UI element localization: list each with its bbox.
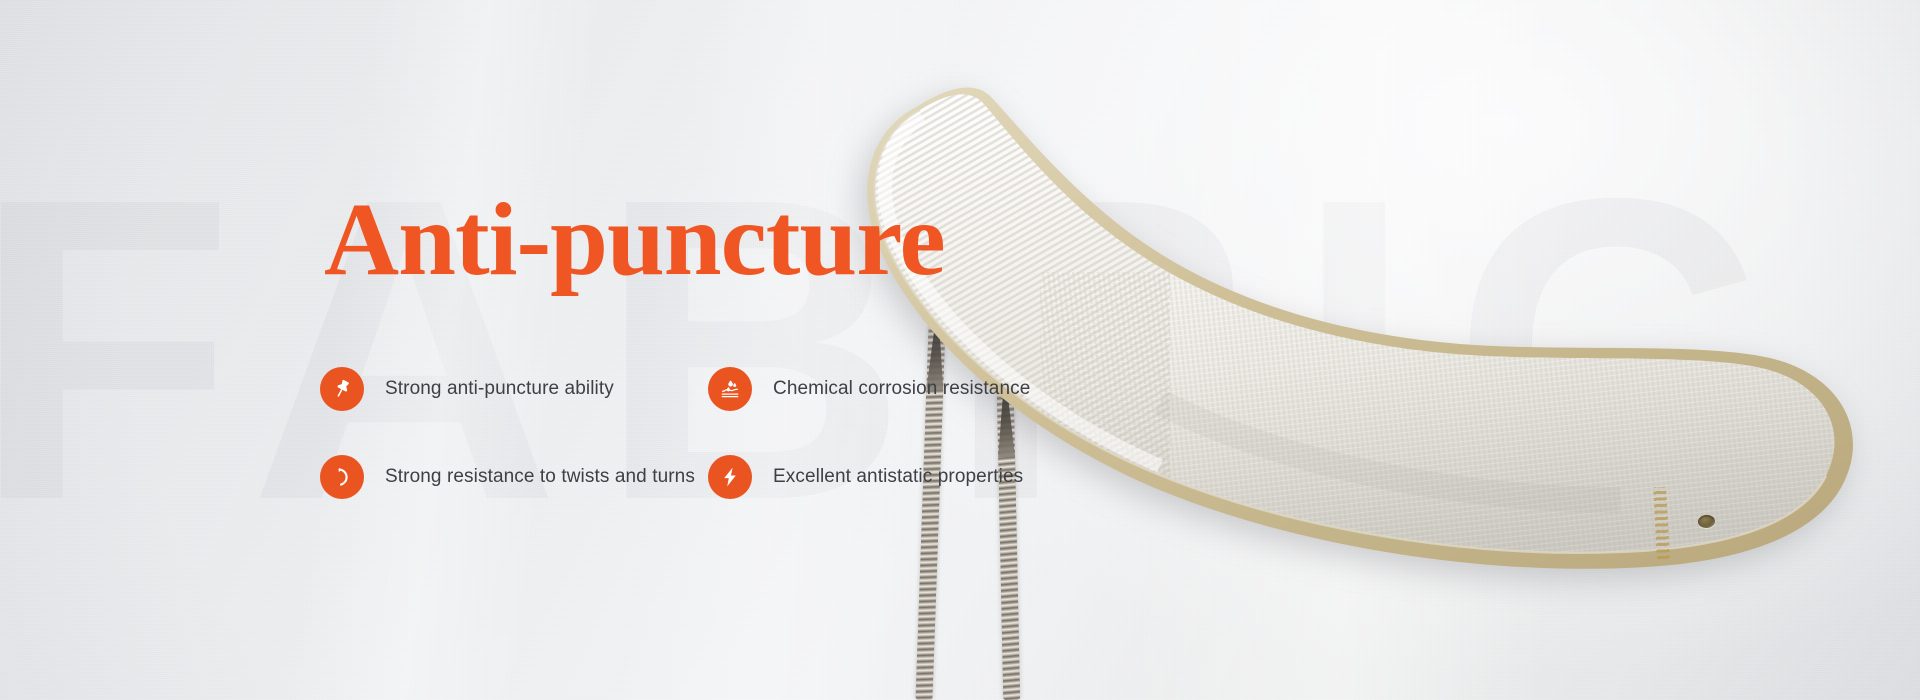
pushpin-icon: [320, 367, 364, 411]
feature-item-twist-resistance: Strong resistance to twists and turns: [320, 433, 692, 521]
feature-list: Strong anti-puncture ability Chemical co…: [320, 345, 1080, 521]
feature-item-chemical-resistance: Chemical corrosion resistance: [708, 345, 1080, 433]
feature-item-anti-puncture: Strong anti-puncture ability: [320, 345, 692, 433]
twist-arrow-icon: [320, 455, 364, 499]
lightning-bolt-icon: [708, 455, 752, 499]
feature-item-antistatic: Excellent antistatic properties: [708, 433, 1080, 521]
droplets-icon: [708, 367, 752, 411]
feature-label: Strong anti-puncture ability: [385, 378, 614, 400]
banner-content: Anti-puncture Strong anti-puncture abili…: [320, 0, 1220, 700]
anti-puncture-banner: FABRIC: [0, 0, 1920, 700]
feature-label: Strong resistance to twists and turns: [385, 466, 695, 488]
feature-label: Chemical corrosion resistance: [773, 378, 1030, 400]
feature-label: Excellent antistatic properties: [773, 466, 1023, 488]
page-title: Anti-puncture: [324, 188, 945, 292]
